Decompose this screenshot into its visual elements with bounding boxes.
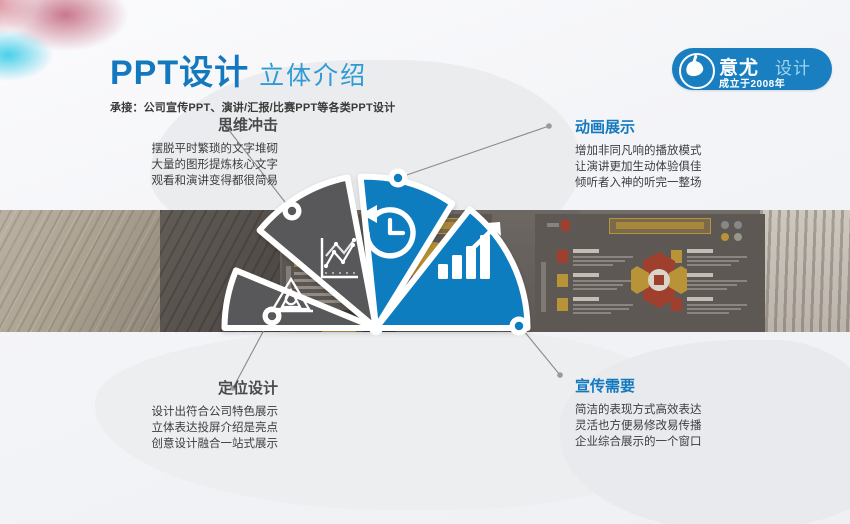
endpoint-top-right [546, 123, 552, 129]
callout-line: 大量的图形提炼核心文字 [78, 157, 278, 173]
callout-line: 增加非同凡响的播放模式 [575, 143, 785, 159]
callout-line: 灵活也方便易修改易传播 [575, 418, 785, 434]
callout-title: 动画展示 [575, 120, 785, 137]
tagline: 承接：公司宣传PPT、演讲/汇报/比赛PPT等各类PPT设计 [110, 99, 395, 115]
callout-bottom-left: 定位设计 设计出符合公司特色展示 立体表达投屏介绍是亮点 创意设计融合一站式展示 [78, 381, 278, 452]
callout-line: 简洁的表现方式高效表达 [575, 402, 785, 418]
connector-top-right [398, 126, 549, 178]
callout-line: 观看和演讲变得都很简易 [78, 173, 278, 189]
callout-top-left: 思维冲击 摆脱平时繁琐的文字堆砌 大量的图形提炼核心文字 观看和演讲变得都很简易 [78, 118, 278, 189]
page-title: PPT设计 [110, 45, 249, 94]
callout-title: 思维冲击 [78, 118, 278, 135]
callout-line: 创意设计融合一站式展示 [78, 436, 278, 452]
callout-line: 立体表达投屏介绍是亮点 [78, 420, 278, 436]
brand-established: 成立于2008年 [719, 75, 785, 90]
callout-line: 企业综合展示的一个窗口 [575, 434, 785, 450]
callout-bottom-right: 宣传需要 简洁的表现方式高效表达 灵活也方便易修改易传播 企业综合展示的一个窗口 [575, 379, 785, 450]
callout-line: 倾听者入神的听完一整场 [575, 175, 785, 191]
page-subtitle: 立体介绍 [259, 56, 367, 92]
callout-title: 宣传需要 [575, 379, 785, 396]
callout-line: 让演讲更加生动体验俱佳 [575, 159, 785, 175]
callout-top-right: 动画展示 增加非同凡响的播放模式 让演讲更加生动体验俱佳 倾听者入神的听完一整场 [575, 120, 785, 191]
page-title-block: PPT设计立体介绍 承接：公司宣传PPT、演讲/汇报/比赛PPT等各类PPT设计 [110, 45, 395, 115]
callout-line: 设计出符合公司特色展示 [78, 404, 278, 420]
brand-logo-badge[interactable]: 意尤 设计 成立于2008年 [672, 48, 832, 90]
callout-line: 摆脱平时繁琐的文字堆砌 [78, 141, 278, 157]
callout-title: 定位设计 [78, 381, 278, 398]
node-center [369, 321, 383, 335]
slide-canvas: PPT设计立体介绍 承接：公司宣传PPT、演讲/汇报/比赛PPT等各类PPT设计… [0, 0, 850, 524]
endpoint-bottom-right [557, 372, 563, 378]
